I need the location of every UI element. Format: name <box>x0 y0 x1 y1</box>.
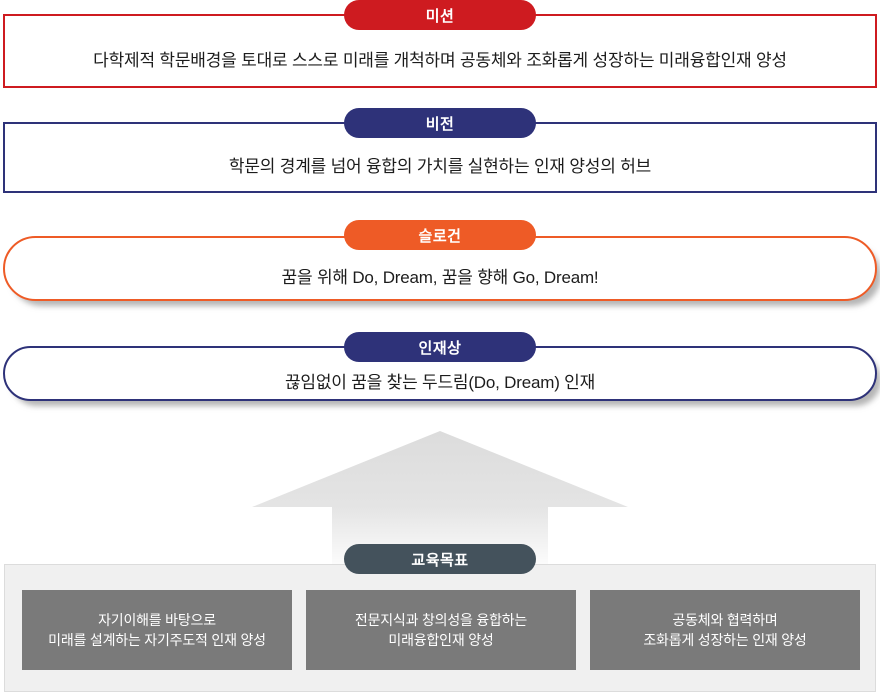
mission-vision-diagram: 다학제적 학문배경을 토대로 스스로 미래를 개척하며 공동체와 조화롭게 성장… <box>0 0 880 700</box>
slogan-text: 꿈을 위해 Do, Dream, 꿈을 향해 Go, Dream! <box>282 249 599 288</box>
mission-text: 다학제적 학문배경을 토대로 스스로 미래를 개척하며 공동체와 조화롭게 성장… <box>93 32 787 71</box>
education-goals-panel: 자기이해를 바탕으로 미래를 설계하는 자기주도적 인재 양성 전문지식과 창의… <box>4 564 876 692</box>
vision-label-pill: 비전 <box>344 108 536 138</box>
goal-box-1[interactable]: 자기이해를 바탕으로 미래를 설계하는 자기주도적 인재 양성 <box>22 590 292 670</box>
talent-label-pill: 인재상 <box>344 332 536 362</box>
slogan-label-pill: 슬로건 <box>344 220 536 250</box>
goal-box-2[interactable]: 전문지식과 창의성을 융합하는 미래융합인재 양성 <box>306 590 576 670</box>
vision-text: 학문의 경계를 넘어 융합의 가치를 실현하는 인재 양성의 허브 <box>229 138 651 177</box>
slogan-label: 슬로건 <box>419 225 462 246</box>
mission-label: 미션 <box>426 5 455 26</box>
goal-box-3[interactable]: 공동체와 협력하며 조화롭게 성장하는 인재 양성 <box>590 590 860 670</box>
education-goals-row: 자기이해를 바탕으로 미래를 설계하는 자기주도적 인재 양성 전문지식과 창의… <box>5 590 877 670</box>
mission-label-pill: 미션 <box>344 0 536 30</box>
education-goals-label-pill: 교육목표 <box>344 544 536 574</box>
talent-label: 인재상 <box>419 337 462 358</box>
education-goals-label: 교육목표 <box>411 549 468 570</box>
vision-label: 비전 <box>426 113 455 134</box>
